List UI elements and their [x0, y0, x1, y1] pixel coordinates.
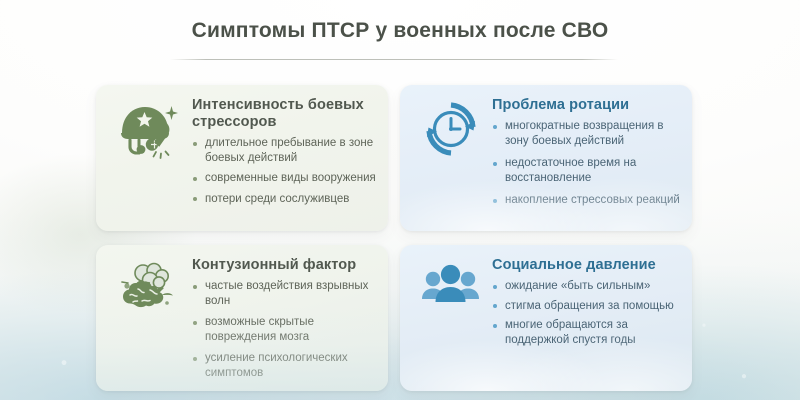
card-title: Проблема ротации: [492, 97, 682, 114]
title-divider: [170, 59, 618, 60]
people-group-icon: [420, 261, 482, 321]
page-title: Симптомы ПТСР у военных после СВО: [0, 19, 800, 43]
card-body: Проблема ротации многократные возвращени…: [492, 97, 682, 216]
list-item: современные виды вооружения: [192, 171, 378, 186]
list-item: недостаточное время на восстановление: [492, 156, 682, 185]
card-title: Интенсивность боевых стрессоров: [192, 97, 378, 131]
clock-rotation-icon: [420, 99, 482, 159]
list-item: потери среди сослуживцев: [192, 192, 378, 207]
list-item: ожидание «быть сильным»: [492, 279, 682, 294]
card-bullet-list: многократные возвращения в зону боевых д…: [492, 119, 682, 208]
list-item: накопление стрессовых реакций: [492, 193, 682, 208]
list-item: длительное пребывание в зоне боевых дейс…: [192, 136, 378, 165]
list-item: усиление психологических симптомов: [192, 351, 378, 380]
card-body: Интенсивность боевых стрессоров длительн…: [192, 97, 378, 206]
list-item: многие обращаются за поддержкой спустя г…: [492, 318, 682, 347]
card-rotation[interactable]: Проблема ротации многократные возвращени…: [400, 85, 692, 231]
military-helmet-icon: [116, 99, 178, 159]
list-item: возможные скрытые повреждения мозга: [192, 315, 378, 344]
list-item: стигма обращения за помощью: [492, 299, 682, 314]
card-concussion[interactable]: Контузионный фактор частые воздействия в…: [96, 245, 388, 391]
card-bullet-list: частые воздействия взрывных волн возможн…: [192, 279, 378, 380]
cards-grid: Интенсивность боевых стрессоров длительн…: [96, 85, 704, 391]
card-bullet-list: ожидание «быть сильным» стигма обращения…: [492, 279, 682, 347]
brain-blast-icon: [116, 259, 178, 319]
list-item: частые воздействия взрывных волн: [192, 279, 378, 308]
card-body: Социальное давление ожидание «быть сильн…: [492, 257, 682, 352]
card-title: Контузионный фактор: [192, 257, 378, 274]
card-intensity[interactable]: Интенсивность боевых стрессоров длительн…: [96, 85, 388, 231]
card-title: Социальное давление: [492, 257, 682, 274]
card-bullet-list: длительное пребывание в зоне боевых дейс…: [192, 136, 378, 206]
card-social-pressure[interactable]: Социальное давление ожидание «быть сильн…: [400, 245, 692, 391]
infographic-slide: Симптомы ПТСР у военных после СВО: [0, 0, 800, 400]
card-body: Контузионный фактор частые воздействия в…: [192, 257, 378, 387]
list-item: многократные возвращения в зону боевых д…: [492, 119, 682, 148]
